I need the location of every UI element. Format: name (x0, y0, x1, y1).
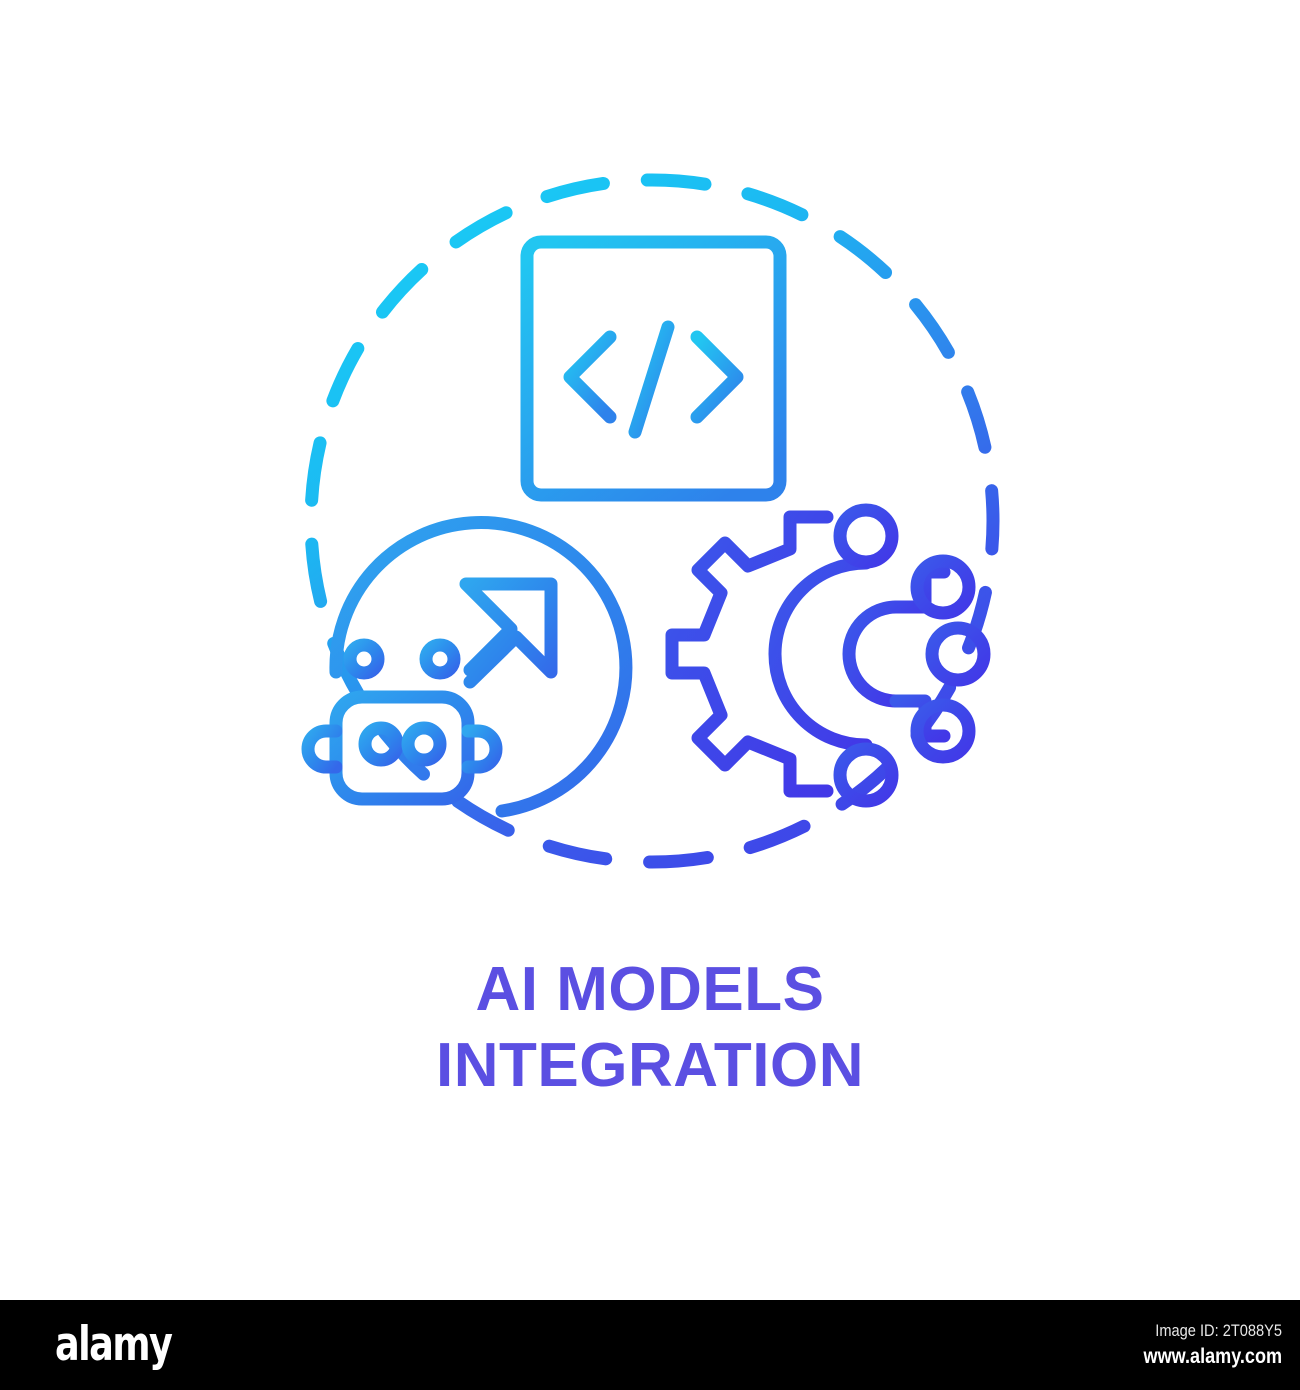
footer-meta: Image ID: 2T088Y5 www.alamy.com (1121, 1318, 1282, 1371)
screenshot-root: AI MODELS INTEGRATION alamy Image ID: 2T… (0, 0, 1300, 1390)
code-window-icon (527, 242, 780, 495)
website-url[interactable]: www.alamy.com (1143, 1343, 1282, 1371)
concept-icon-artwork (0, 0, 1300, 1300)
circuit-node-right (932, 628, 984, 680)
alamy-footer-bar: alamy Image ID: 2T088Y5 www.alamy.com (0, 1300, 1300, 1390)
gear-circuit-icon (672, 510, 984, 801)
artboard: AI MODELS INTEGRATION (0, 0, 1300, 1300)
image-id-label: Image ID: 2T088Y5 (1143, 1318, 1282, 1343)
alamy-logo: alamy (55, 1321, 171, 1368)
